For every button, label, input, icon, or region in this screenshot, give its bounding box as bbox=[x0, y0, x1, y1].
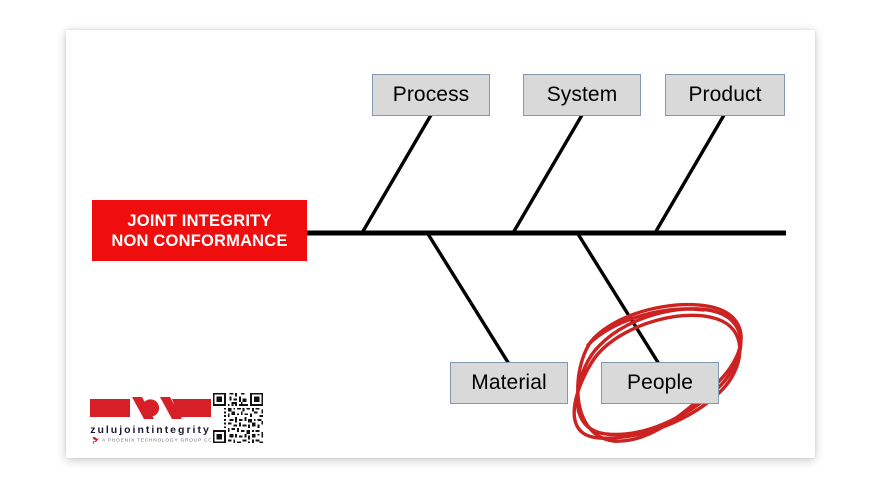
problem-statement-box: JOINT INTEGRITY NON CONFORMANCE bbox=[92, 200, 307, 261]
category-label-product: Product bbox=[688, 83, 761, 107]
brand-logo-block: zulujointintegrity A PHOENIX TECHNOLOGY … bbox=[88, 391, 266, 449]
category-box-people[interactable]: People bbox=[601, 362, 719, 404]
logo-wordmark: zulujointintegrity bbox=[88, 424, 213, 436]
category-box-process[interactable]: Process bbox=[372, 74, 490, 116]
category-label-material: Material bbox=[471, 371, 547, 395]
qr-code-icon[interactable] bbox=[211, 391, 265, 445]
category-label-process: Process bbox=[393, 83, 470, 107]
problem-statement-line2: NON CONFORMANCE bbox=[111, 231, 287, 251]
category-box-material[interactable]: Material bbox=[450, 362, 568, 404]
logo-mark-icon bbox=[88, 391, 213, 425]
category-label-system: System bbox=[547, 83, 618, 107]
category-box-product[interactable]: Product bbox=[665, 74, 785, 116]
category-box-system[interactable]: System bbox=[523, 74, 641, 116]
phoenix-bird-icon bbox=[92, 436, 99, 444]
category-label-people: People bbox=[627, 371, 693, 395]
problem-statement-line1: JOINT INTEGRITY bbox=[127, 211, 271, 231]
logo-tagline-row: A PHOENIX TECHNOLOGY GROUP COMPANY bbox=[92, 436, 217, 444]
slide-stage: Process System Product Material People J… bbox=[0, 0, 883, 494]
